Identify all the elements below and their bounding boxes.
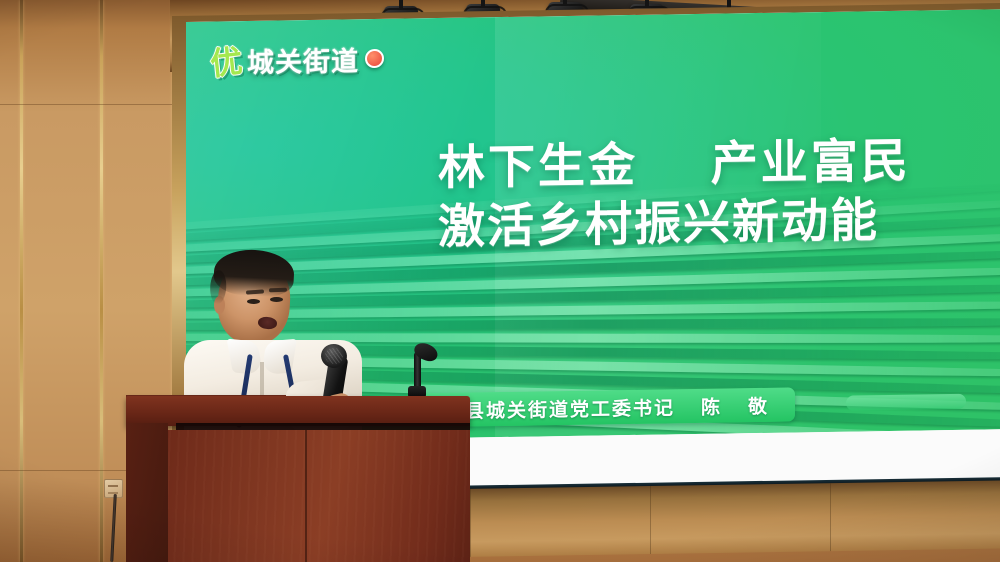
speaker-caption-badge: 朐县城关街道党工委书记 陈 敬 xyxy=(422,387,795,427)
caption-surname: 陈 xyxy=(701,392,722,419)
slide-logo: 优 城关街道 xyxy=(210,35,384,84)
slide-headline: 林下生金 产业富民 激活乡村振兴新动能 xyxy=(438,134,978,256)
caption-org: 朐县城关街道党工委书记 xyxy=(444,393,675,424)
podium-side-panel xyxy=(126,423,168,562)
headline-line2: 激活乡村振兴新动能 xyxy=(438,192,978,255)
logo-mark-icon: 优 xyxy=(208,36,246,86)
eye xyxy=(270,297,283,302)
wall-gold-trim xyxy=(20,0,23,562)
photo-scene: 优 城关街道 林下生金 产业富民 激活乡村振兴新动能 朐县城关街道党工委书记 陈 xyxy=(0,0,1000,562)
red-dot-icon xyxy=(365,48,384,67)
caption-tail xyxy=(846,394,966,411)
headline-line1-part1: 林下生金 xyxy=(438,138,638,196)
eye xyxy=(247,299,260,304)
logo-text: 城关街道 xyxy=(247,39,359,80)
wall-gold-trim xyxy=(100,0,103,562)
eyebrow xyxy=(269,288,287,293)
speaker-person xyxy=(186,244,356,419)
podium-body xyxy=(160,430,470,562)
wall-seam xyxy=(0,104,200,105)
caption-given-name: 敬 xyxy=(748,391,769,418)
headline-line1-part2: 产业富民 xyxy=(711,134,911,192)
podium-top xyxy=(126,396,470,426)
